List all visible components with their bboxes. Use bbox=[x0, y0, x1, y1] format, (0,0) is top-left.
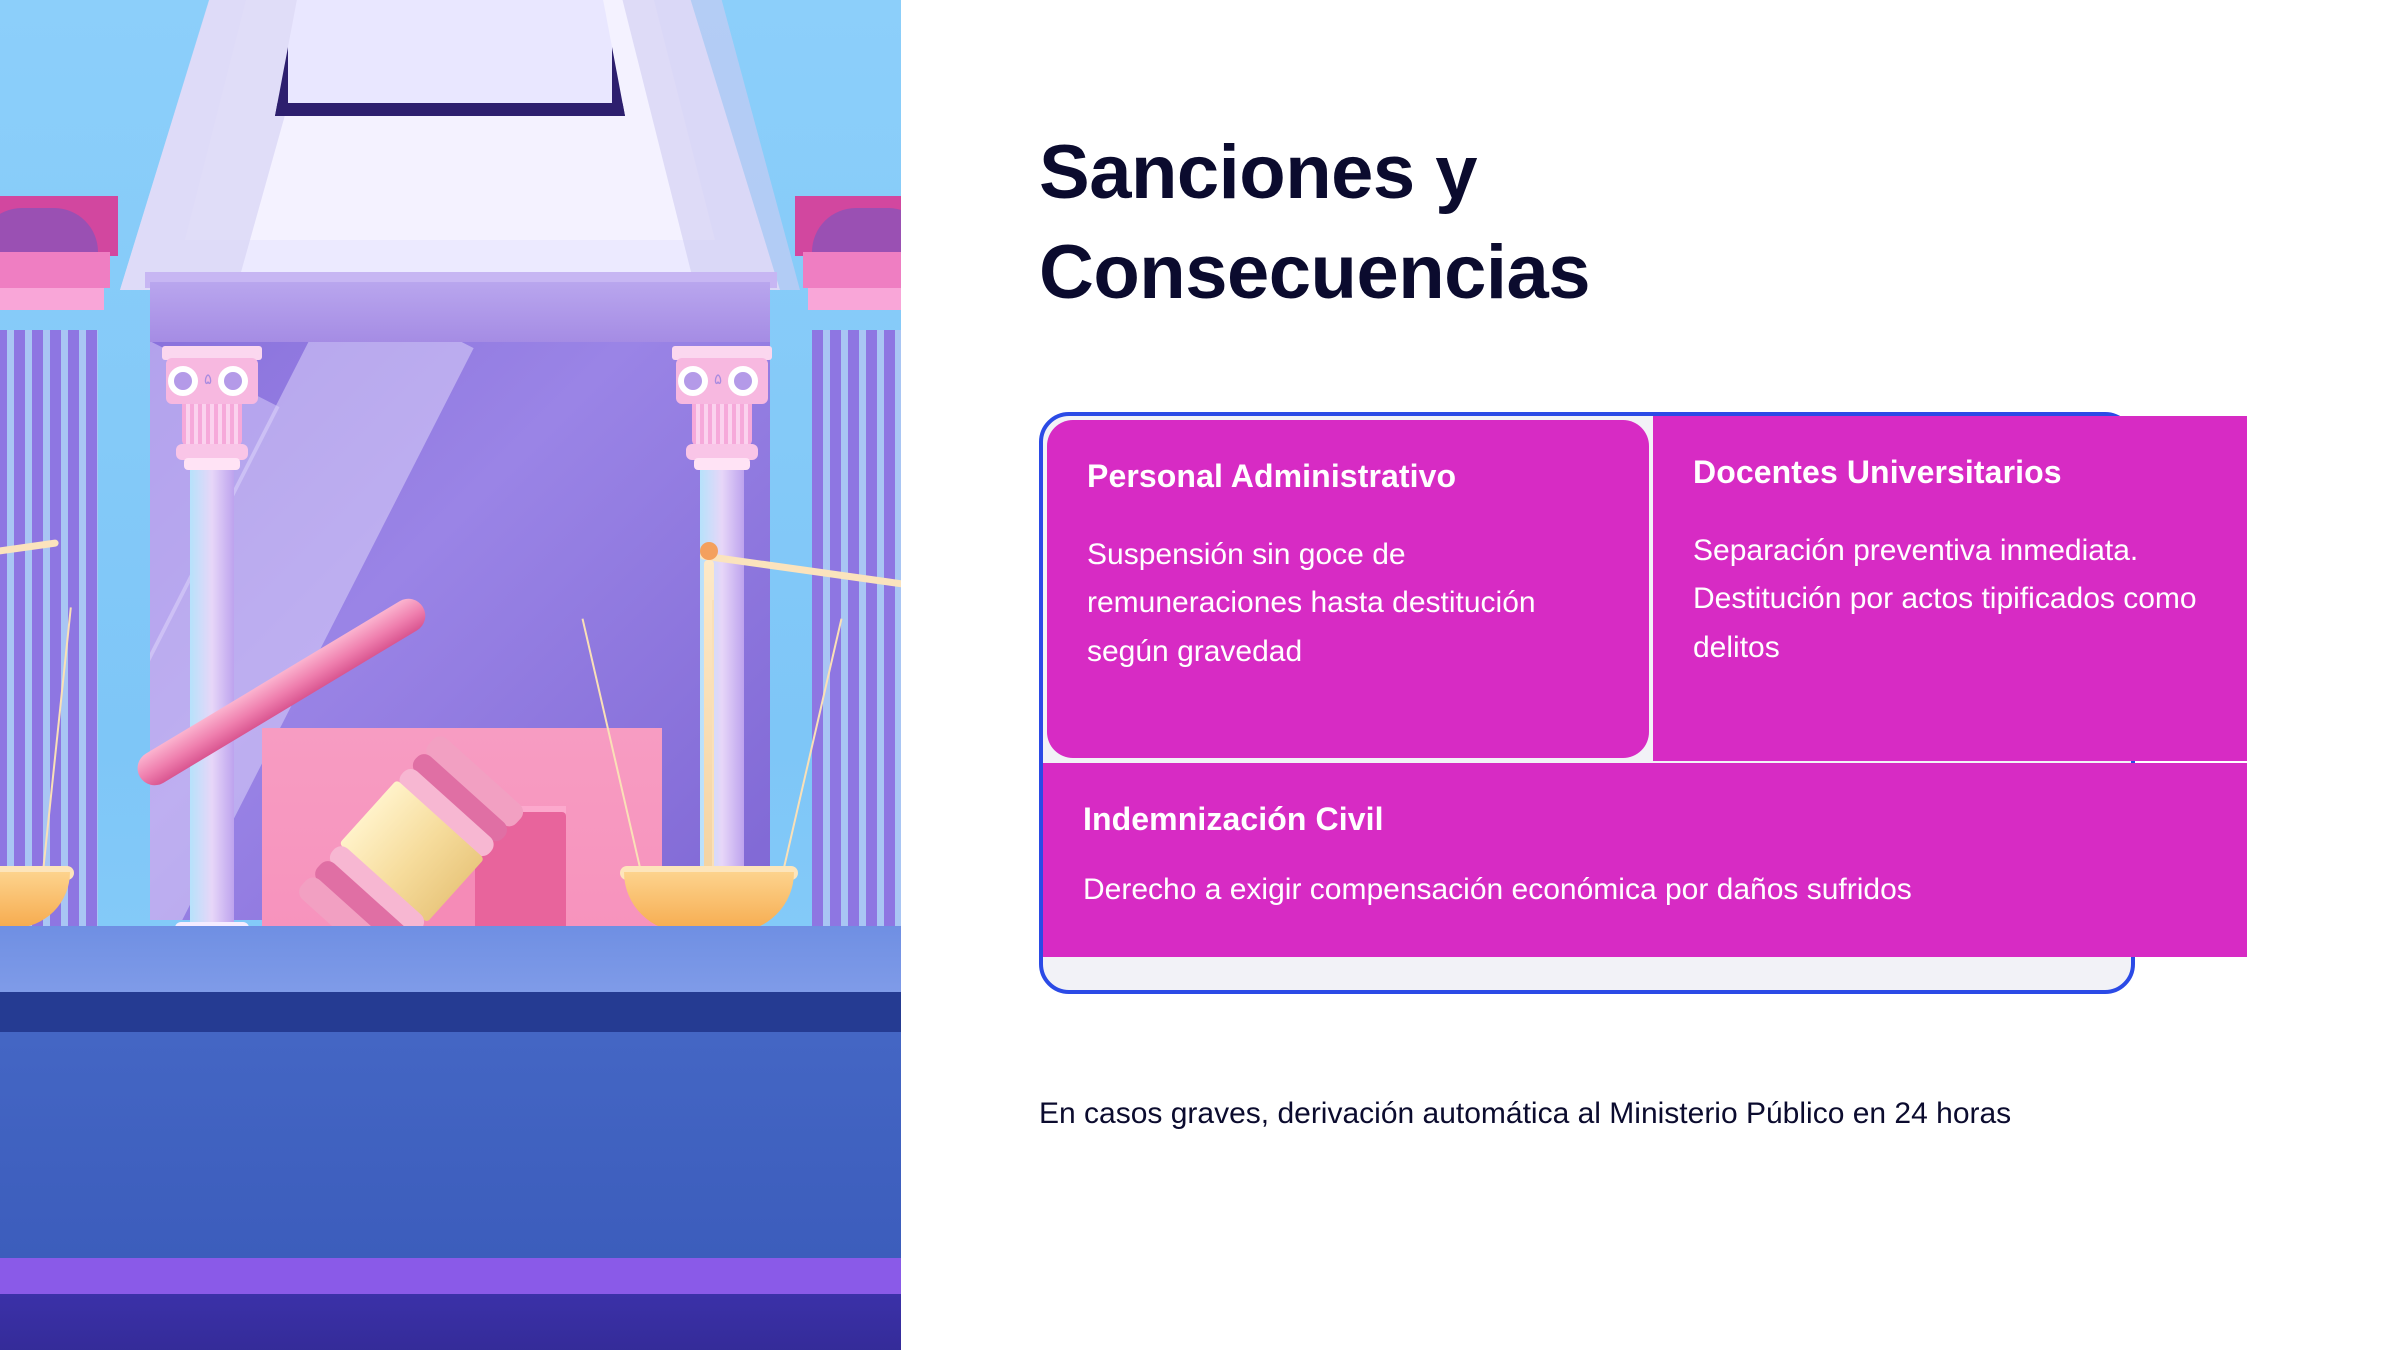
outer-capital-band-left bbox=[0, 252, 110, 288]
card-heading: Personal Administrativo bbox=[1087, 458, 1609, 495]
floor-band-5 bbox=[0, 1294, 901, 1350]
outer-capital-base-left bbox=[0, 288, 104, 310]
footnote-text: En casos graves, derivación automática a… bbox=[1039, 1090, 2189, 1139]
ionic-ornament: ۵ bbox=[204, 372, 222, 388]
outer-column-right bbox=[812, 330, 901, 930]
ionic-ornament: ۵ bbox=[714, 372, 732, 388]
outer-capital-band-right bbox=[803, 252, 901, 288]
outer-capital-base-right bbox=[808, 288, 901, 310]
page-title: Sanciones y Consecuencias bbox=[1039, 123, 2019, 324]
card-docentes-universitarios[interactable]: Docentes Universitarios Separación preve… bbox=[1653, 416, 2247, 761]
page-title-line-2: Consecuencias bbox=[1039, 230, 1590, 315]
card-body: Suspensión sin goce de remuneraciones ha… bbox=[1087, 531, 1609, 677]
floor-band-3 bbox=[0, 1032, 901, 1260]
card-personal-administrativo[interactable]: Personal Administrativo Suspensión sin g… bbox=[1047, 420, 1649, 758]
ceiling-skylight bbox=[275, 0, 625, 116]
courtroom-illustration: ۵ ۵ bbox=[0, 0, 901, 1350]
inner-column-left bbox=[190, 470, 234, 930]
card-heading: Docentes Universitarios bbox=[1693, 454, 2207, 491]
volute-icon bbox=[678, 366, 708, 396]
scales-string bbox=[712, 600, 714, 872]
floor-band-2 bbox=[0, 992, 901, 1032]
volute-icon bbox=[728, 366, 758, 396]
ionic-ring-inner bbox=[184, 458, 240, 470]
lintel-beam bbox=[150, 282, 770, 342]
floor-band-1 bbox=[0, 926, 901, 992]
card-indemnizacion-civil[interactable]: Indemnización Civil Derecho a exigir com… bbox=[1043, 763, 2247, 957]
volute-icon bbox=[218, 366, 248, 396]
content-panel: Sanciones y Consecuencias Personal Admin… bbox=[901, 0, 2400, 1350]
floor-band-4 bbox=[0, 1258, 901, 1294]
ionic-ring-inner bbox=[694, 458, 750, 470]
ionic-neck bbox=[692, 404, 752, 446]
slide: ۵ ۵ bbox=[0, 0, 2400, 1350]
page-title-line-1: Sanciones y bbox=[1039, 130, 1477, 215]
ionic-capital-left: ۵ bbox=[160, 340, 264, 470]
ionic-neck bbox=[182, 404, 242, 446]
ionic-capital-right: ۵ bbox=[670, 340, 774, 470]
card-heading: Indemnización Civil bbox=[1083, 801, 2207, 838]
cards-frame: Personal Administrativo Suspensión sin g… bbox=[1039, 412, 2135, 994]
scales-pivot-knob bbox=[700, 542, 718, 560]
outer-column-left bbox=[0, 330, 98, 930]
volute-icon bbox=[168, 366, 198, 396]
card-body: Separación preventiva inmediata. Destitu… bbox=[1693, 527, 2207, 673]
card-body: Derecho a exigir compensación económica … bbox=[1083, 866, 2207, 915]
